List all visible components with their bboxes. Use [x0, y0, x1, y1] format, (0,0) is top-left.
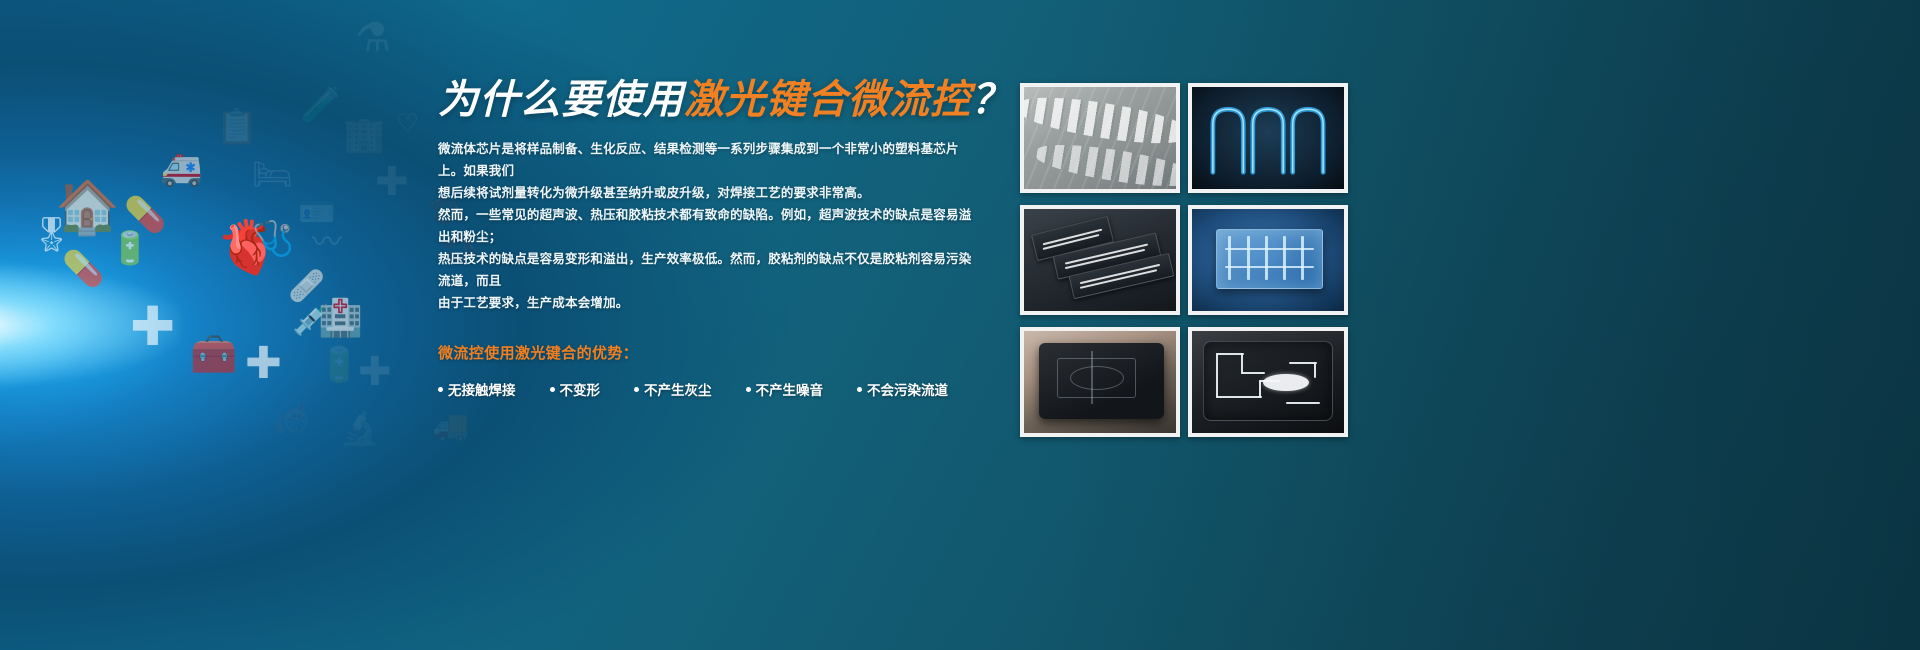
list-item-label: 无接触焊接 — [448, 379, 516, 399]
gallery-item[interactable] — [1020, 83, 1180, 193]
black-channel-plate-photo — [1192, 331, 1344, 433]
paragraph-line: 热压技术的缺点是容易变形和溢出，生产效率极低。然而，胶粘剂的缺点不仅是胶粘剂容易… — [438, 248, 983, 292]
product-photo-gallery — [1020, 83, 1348, 437]
bullet-dot-icon — [438, 387, 443, 392]
list-item: 不变形 — [550, 379, 601, 399]
list-item-label: 不产生灰尘 — [644, 379, 712, 399]
banner: ⚗ 🧪 📋 ♡ 🏢 🚑 🛏 ✚ 🏠 💊 🪪 🫘 🎖 🔋 🫀 🩺 〰 🫘 💊 🩹 … — [0, 0, 1920, 650]
list-item: 无接触焊接 — [438, 379, 516, 399]
microfluidic-chip-wells-photo — [1024, 87, 1176, 189]
list-item: 不产生噪音 — [746, 379, 824, 399]
list-item: 不会污染流道 — [857, 379, 948, 399]
title-suffix: ？ — [971, 78, 1012, 122]
gallery-item[interactable] — [1188, 327, 1348, 437]
paragraph-line: 然而，一些常见的超声波、热压和胶粘技术都有致命的缺陷。例如，超声波技术的缺点是容… — [438, 204, 983, 248]
content-column: 为什么要使用激光键合微流控？ 微流体芯片是将样品制备、生化反应、结果检测等一系列… — [438, 78, 983, 399]
paragraph-line: 想后续将试剂量转化为微升级甚至纳升或皮升级，对焊接工艺的要求非常高。 — [438, 182, 983, 204]
paragraph-line: 由于工艺要求，生产成本会增加。 — [438, 292, 983, 314]
title-prefix: 为什么要使用 — [438, 78, 684, 122]
bullet-dot-icon — [634, 387, 639, 392]
gallery-item[interactable] — [1188, 205, 1348, 315]
microfluidic-chip-array-photo — [1024, 209, 1176, 311]
microfluidic-serpentine-channel-photo — [1192, 87, 1344, 189]
bullet-dot-icon — [746, 387, 751, 392]
gallery-item[interactable] — [1020, 205, 1180, 315]
page-title: 为什么要使用激光键合微流控？ — [438, 78, 983, 122]
list-item-label: 不会污染流道 — [867, 379, 948, 399]
gallery-item[interactable] — [1188, 83, 1348, 193]
bullet-dot-icon — [857, 387, 862, 392]
gallery-item[interactable] — [1020, 327, 1180, 437]
list-item: 不产生灰尘 — [634, 379, 712, 399]
list-item-label: 不变形 — [560, 379, 601, 399]
advantages-subheading: 微流控使用激光键合的优势： — [438, 342, 983, 363]
bullet-dot-icon — [550, 387, 555, 392]
microfluidic-manifold-block-photo — [1192, 209, 1344, 311]
list-item-label: 不产生噪音 — [756, 379, 824, 399]
black-microfluidic-cartridge-photo — [1024, 331, 1176, 433]
title-highlight: 激光键合微流控 — [684, 78, 971, 122]
intro-paragraphs: 微流体芯片是将样品制备、生化反应、结果检测等一系列步骤集成到一个非常小的塑料基芯… — [438, 138, 983, 314]
paragraph-line: 微流体芯片是将样品制备、生化反应、结果检测等一系列步骤集成到一个非常小的塑料基芯… — [438, 138, 983, 182]
advantages-list: 无接触焊接 不变形 不产生灰尘 不产生噪音 不会污染流道 — [438, 379, 983, 399]
